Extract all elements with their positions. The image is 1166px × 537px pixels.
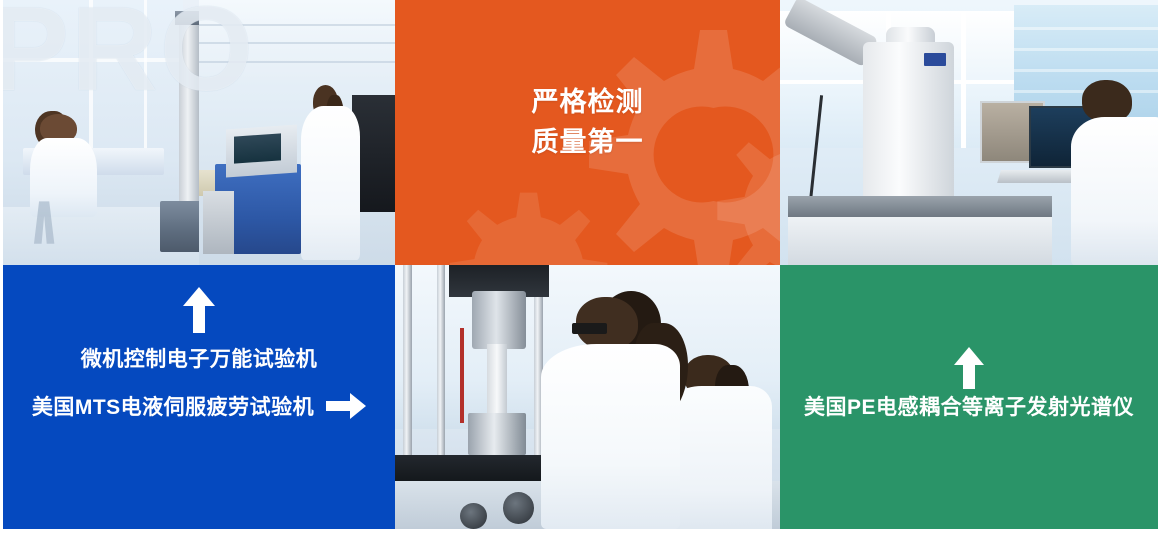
test-specimen: [487, 344, 506, 413]
blue-panel-line-2: 美国MTS电液伺服疲劳试验机: [32, 391, 314, 421]
photo-universal-testing-machine: PRO: [3, 0, 395, 265]
window-blind: [1014, 48, 1158, 51]
technician-lab-coat: [301, 106, 360, 260]
blue-panel-line-1: 微机控制电子万能试验机: [3, 343, 395, 373]
equipment-panel-blue: 微机控制电子万能试验机 美国MTS电液伺服疲劳试验机: [3, 265, 395, 529]
photo-image-top-right: [780, 0, 1158, 265]
technician-lab-coat: [1071, 117, 1158, 265]
slogan-text-block: 严格检测 质量第一: [395, 82, 780, 162]
floor-cabinet: [203, 191, 234, 255]
control-knob: [503, 492, 534, 524]
photo-image-bottom-center: [395, 265, 780, 529]
photo-fatigue-testing-machine: [395, 265, 780, 529]
computer-keyboard: [997, 170, 1076, 183]
photo-scanning-electron-microscope: [780, 0, 1158, 265]
panel-grid: PRO 严格检测 质量第一: [3, 0, 1158, 529]
specimen-chuck: [468, 413, 526, 455]
arrow-right-icon: [326, 393, 366, 419]
gear-icon: [425, 185, 615, 265]
sem-chamber: [863, 42, 954, 212]
photo-image-top-left: PRO: [3, 0, 395, 265]
equipment-panel-green: 美国PE电感耦合等离子发射光谱仪: [780, 265, 1158, 529]
technician-lab-coat: [665, 386, 773, 529]
technician-lab-coat: [541, 344, 680, 529]
instrument-table-front: [788, 217, 1053, 265]
slogan-panel-orange: 严格检测 质量第一: [395, 0, 780, 265]
arrow-up-icon: [181, 287, 217, 333]
hydraulic-actuator: [472, 291, 526, 349]
photo-watermark-text: PRO: [3, 0, 255, 104]
sem-brand-badge: [924, 53, 947, 66]
blue-panel-line-2-row: 美国MTS电液伺服疲劳试验机: [3, 391, 395, 421]
instrument-screen: [234, 133, 281, 163]
slogan-line-2: 质量第一: [395, 122, 780, 162]
instrument-table-top: [788, 196, 1053, 217]
showcase-banner: PRO 严格检测 质量第一: [0, 0, 1166, 537]
green-panel-line-1: 美国PE电感耦合等离子发射光谱仪: [780, 391, 1158, 421]
arrow-up-icon: [952, 347, 986, 389]
technician-head: [1082, 80, 1131, 122]
window-blind: [1014, 69, 1158, 72]
red-cable: [460, 328, 464, 423]
slogan-line-1: 严格检测: [395, 82, 780, 122]
window-blind: [1014, 27, 1158, 30]
eyeglasses-icon: [572, 323, 607, 334]
